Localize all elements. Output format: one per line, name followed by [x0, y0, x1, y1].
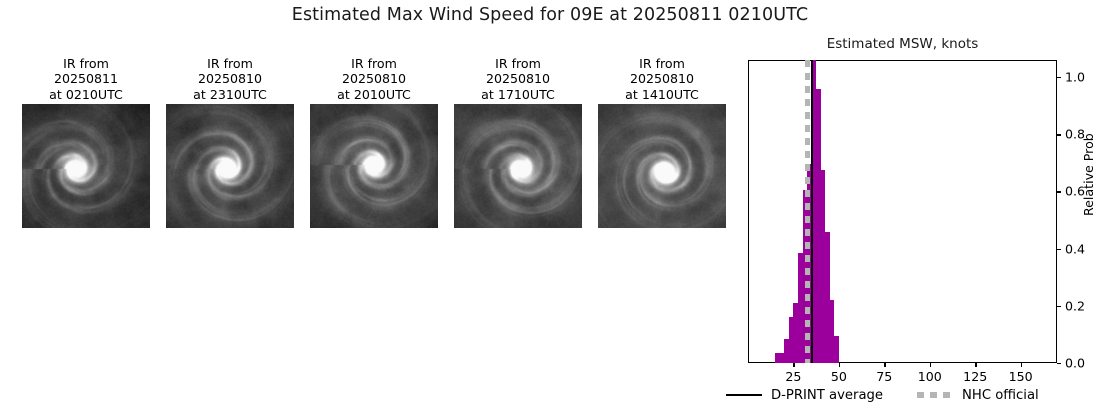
x-axis-tick — [793, 363, 794, 367]
x-axis-tick-label: 125 — [963, 369, 987, 384]
y-axis-tick-label: 0.0 — [1065, 356, 1085, 371]
satellite-caption: IR from 20250810 at 1410UTC — [596, 56, 728, 104]
satellite-image-strip: IR from 20250811 at 0210UTC IR from 2025… — [20, 56, 736, 278]
y-axis-tick — [1057, 249, 1061, 250]
chart-legend: D-PRINT average NHC official — [726, 385, 1086, 405]
x-axis-tick-label: 75 — [876, 369, 892, 384]
satellite-image-ir — [598, 104, 726, 228]
satellite-panel-1[interactable]: IR from 20250810 at 2310UTC — [164, 56, 296, 228]
dprint-average-line — [811, 60, 813, 363]
x-axis-tick-label: 150 — [1009, 369, 1033, 384]
x-axis-tick-label: 25 — [785, 369, 801, 384]
x-axis-tick — [839, 363, 840, 367]
y-axis-label: Relative Prob — [1081, 133, 1096, 216]
nhc-official-line — [805, 60, 810, 363]
legend-label: D-PRINT average — [771, 388, 883, 403]
satellite-caption: IR from 20250810 at 2010UTC — [308, 56, 440, 104]
legend-label: NHC official — [962, 388, 1039, 403]
y-axis-tick-label: 0.4 — [1065, 241, 1085, 256]
dashed-line-icon — [917, 392, 953, 398]
solid-line-icon — [726, 394, 762, 396]
satellite-panel-4[interactable]: IR from 20250810 at 1410UTC — [596, 56, 728, 228]
y-axis-tick-label: 0.2 — [1065, 298, 1085, 313]
satellite-caption: IR from 20250810 at 2310UTC — [164, 56, 296, 104]
satellite-caption: IR from 20250811 at 0210UTC — [20, 56, 152, 104]
satellite-image-ir — [166, 104, 294, 228]
y-axis-tick — [1057, 77, 1061, 78]
x-axis-tick-label: 50 — [831, 369, 847, 384]
satellite-image-ir — [454, 104, 582, 228]
legend-entry-nhc-official[interactable]: NHC official — [917, 388, 1039, 403]
satellite-panel-2[interactable]: IR from 20250810 at 2010UTC — [308, 56, 440, 228]
legend-entry-dprint-average[interactable]: D-PRINT average — [726, 388, 883, 403]
y-axis-tick — [1057, 363, 1061, 364]
satellite-caption: IR from 20250810 at 1710UTC — [452, 56, 584, 104]
msw-histogram-chart: 2550751001251500.00.20.40.60.81.0 — [748, 60, 1057, 363]
x-axis-tick-label: 100 — [918, 369, 942, 384]
page-title: Estimated Max Wind Speed for 09E at 2025… — [0, 5, 1100, 25]
y-axis-tick — [1057, 191, 1061, 192]
histogram-bar — [834, 336, 839, 363]
y-axis-tick — [1057, 306, 1061, 307]
satellite-image-ir — [22, 104, 150, 228]
satellite-panel-3[interactable]: IR from 20250810 at 1710UTC — [452, 56, 584, 228]
y-axis-tick — [1057, 134, 1061, 135]
histogram-bars — [748, 60, 1057, 363]
x-axis-tick — [884, 363, 885, 367]
chart-title: Estimated MSW, knots — [748, 36, 1057, 52]
x-axis-tick — [1021, 363, 1022, 367]
x-axis-tick — [930, 363, 931, 367]
satellite-image-ir — [310, 104, 438, 228]
y-axis-tick-label: 1.0 — [1065, 70, 1085, 85]
x-axis-tick — [975, 363, 976, 367]
satellite-panel-0[interactable]: IR from 20250811 at 0210UTC — [20, 56, 152, 228]
